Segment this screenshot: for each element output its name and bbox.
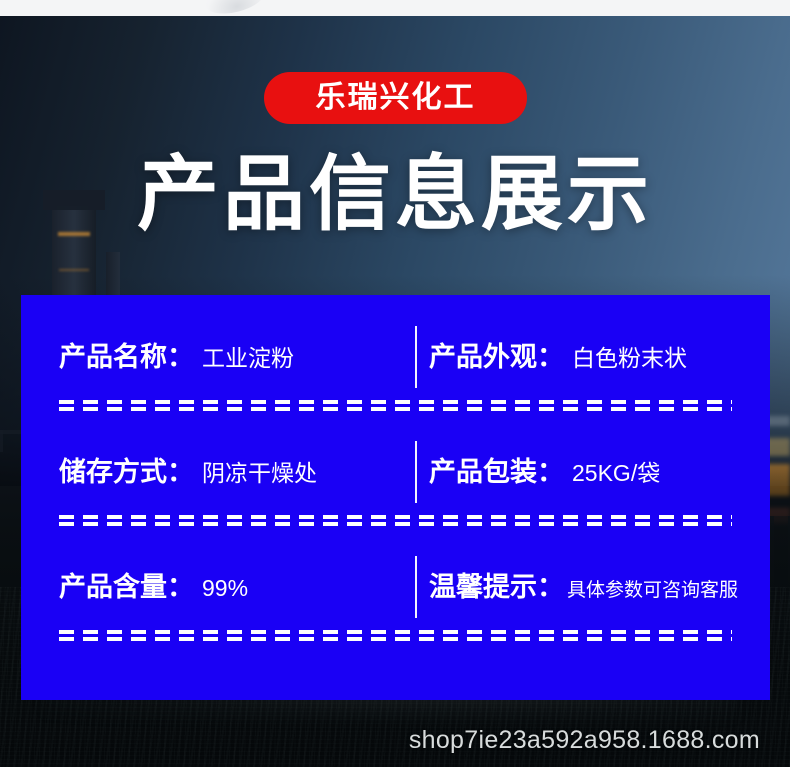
spec-row: 储存方式： 阴凉干燥处 产品包装： 25KG/袋 [21, 437, 770, 507]
dash-line [59, 522, 732, 526]
spec-key: 温馨提示： [429, 552, 564, 622]
spec-cell-product-name: 产品名称： 工业淀粉 [21, 322, 395, 392]
spec-row: 产品含量： 99% 温馨提示： 具体参数可咨询客服 [21, 552, 770, 622]
spec-cell-product-packaging: 产品包装： 25KG/袋 [395, 437, 770, 507]
spec-key: 产品名称： [59, 322, 194, 392]
spec-value: 具体参数可咨询客服 [567, 556, 738, 626]
dash-line [59, 407, 732, 411]
dash-line [59, 637, 732, 641]
spec-panel: 产品名称： 工业淀粉 产品外观： 白色粉末状 储存方式： 阴凉干燥处 产品包装：… [21, 295, 770, 700]
spec-key: 产品包装： [429, 437, 564, 507]
column-divider [415, 441, 417, 503]
brand-badge-label: 乐瑞兴化工 [316, 83, 476, 113]
spec-value: 99% [202, 553, 248, 623]
spec-row: 产品名称： 工业淀粉 产品外观： 白色粉末状 [21, 322, 770, 392]
page-title: 产品信息展示 [0, 152, 790, 238]
dash-line [59, 630, 732, 634]
spec-key: 储存方式： [59, 437, 194, 507]
dash-line [59, 400, 732, 404]
spec-cell-product-content: 产品含量： 99% [21, 552, 395, 622]
row-separator-dashed [59, 515, 732, 526]
brand-badge: 乐瑞兴化工 [264, 72, 527, 124]
spec-cell-product-appearance: 产品外观： 白色粉末状 [395, 322, 770, 392]
spec-value: 工业淀粉 [202, 323, 294, 393]
product-info-banner: 乐瑞兴化工 产品信息展示 产品名称： 工业淀粉 产品外观： 白色粉末状 储存方式… [0, 0, 790, 767]
spec-cell-notice: 温馨提示： 具体参数可咨询客服 [395, 552, 770, 622]
dash-line [59, 515, 732, 519]
top-strip [0, 0, 790, 16]
spec-value: 白色粉末状 [572, 323, 687, 393]
shop-url: shop7ie23a592a958.1688.com [409, 726, 760, 755]
row-separator-dashed [59, 400, 732, 411]
column-divider [415, 556, 417, 618]
spec-cell-storage-method: 储存方式： 阴凉干燥处 [21, 437, 395, 507]
spec-value: 25KG/袋 [572, 438, 660, 508]
spec-key: 产品外观： [429, 322, 564, 392]
column-divider [415, 326, 417, 388]
spec-key: 产品含量： [59, 552, 194, 622]
spec-value: 阴凉干燥处 [202, 438, 317, 508]
row-separator-dashed [59, 630, 732, 641]
